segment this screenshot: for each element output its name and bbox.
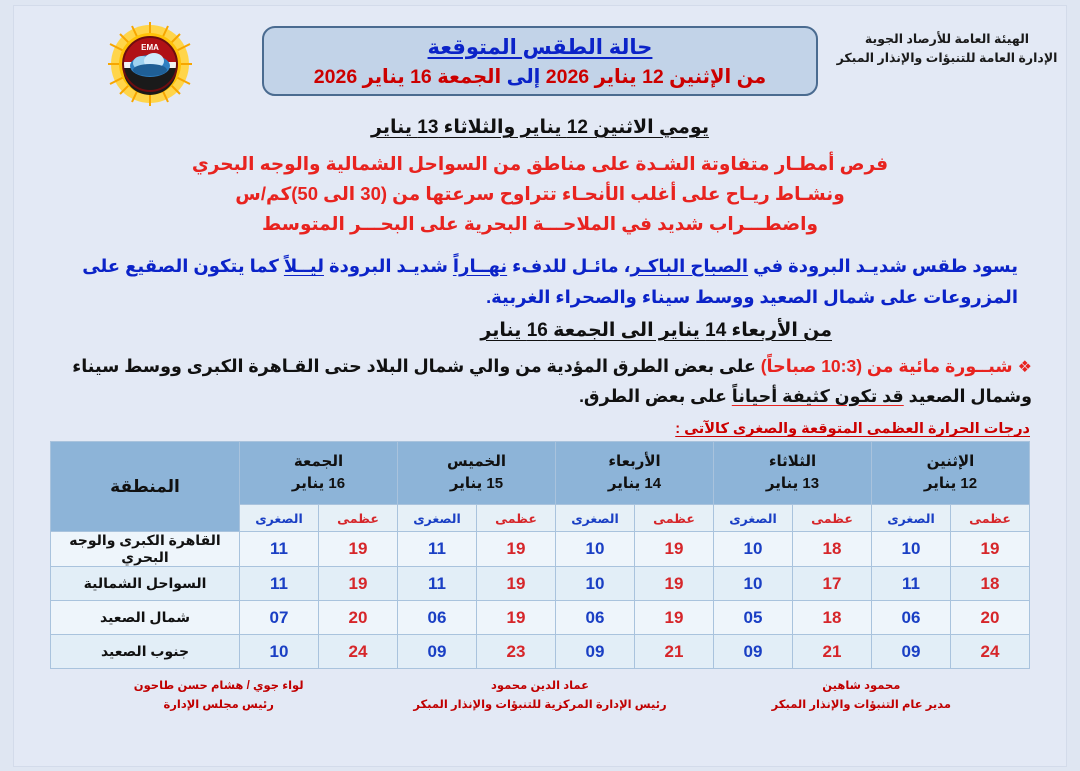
region-column-header: المنطقة (51, 442, 240, 532)
date-range-from: من الإثنين 12 يناير 2026 (546, 66, 766, 88)
fog-text-3: قد تكون كثيفة أحياناً (732, 386, 904, 406)
date-range-connector: إلى (507, 66, 541, 88)
day-date-3: 15 يناير (398, 473, 555, 496)
day-date-1: 13 يناير (714, 473, 871, 496)
subhead-min-4: الصغرى (240, 505, 319, 532)
signature-0: محمود شاهين مدير عام التنبؤات والإنذار ا… (701, 677, 1022, 714)
day-name-4: الجمعة (240, 451, 397, 474)
signature-2: لواء جوي / هشام حسن طاحون رئيس مجلس الإد… (58, 677, 379, 714)
page-title: حالة الطقس المتوقعة (264, 34, 816, 62)
signature-name-1: عماد الدين محمود (379, 677, 700, 695)
organization-line-2: الإدارة العامة للتنبؤات والإنذار المبكر (834, 49, 1060, 68)
cell-max-r0-d4: 19 (319, 532, 398, 567)
cell-min-r1-d0: 11 (872, 567, 951, 601)
cell-min-r3-d3: 09 (398, 635, 477, 669)
day-header-2: الأربعاء 14 يناير (556, 442, 714, 505)
cell-max-r2-d2: 19 (635, 601, 714, 635)
cell-min-r3-d4: 10 (240, 635, 319, 669)
cell-max-r1-d4: 19 (319, 567, 398, 601)
cell-min-r1-d2: 10 (556, 567, 635, 601)
day-date-2: 14 يناير (556, 473, 713, 496)
table-row: 18 11 17 10 19 10 19 11 19 11 السواحل ال… (51, 567, 1030, 601)
cell-min-r1-d4: 11 (240, 567, 319, 601)
cell-min-r3-d1: 09 (714, 635, 793, 669)
cell-min-r3-d0: 09 (872, 635, 951, 669)
cell-max-r1-d3: 19 (477, 567, 556, 601)
table-row: 24 09 21 09 21 09 23 09 24 10 جنوب الصعي… (51, 635, 1030, 669)
day-name-1: الثلاثاء (714, 451, 871, 474)
signature-1: عماد الدين محمود رئيس الإدارة المركزية ل… (379, 677, 700, 714)
signature-role-1: رئيس الإدارة المركزية للتنبؤات والإنذار … (379, 696, 700, 714)
cell-max-r3-d0: 24 (951, 635, 1030, 669)
day-name-2: الأربعاء (556, 451, 713, 474)
svg-text:EMA: EMA (141, 43, 159, 52)
signature-name-0: محمود شاهين (701, 677, 1022, 695)
fog-text-1: شبــورة مائية من (10:3 صباحاً) (761, 356, 1013, 376)
day-name-3: الخميس (398, 451, 555, 474)
cell-min-r0-d2: 10 (556, 532, 635, 567)
date-range-to: الجمعة 16 يناير 2026 (314, 66, 501, 88)
cell-min-r2-d1: 05 (714, 601, 793, 635)
subhead-min-1: الصغرى (714, 505, 793, 532)
organization-name: الهيئة العامة للأرصاد الجوية الإدارة الع… (834, 30, 1060, 69)
day-header-1: الثلاثاء 13 يناير (714, 442, 872, 505)
section-1-temperature-text: يسود طقس شديـد البرودة في الصباح الباكـر… (42, 251, 1038, 313)
region-label-1: السواحل الشمالية (51, 567, 240, 601)
section-1-warning-text: فرص أمطـار متفاوتة الشـدة على مناطق من ا… (42, 149, 1038, 239)
subhead-max-1: عظمى (793, 505, 872, 532)
cell-max-r3-d3: 23 (477, 635, 556, 669)
cell-max-r2-d0: 20 (951, 601, 1030, 635)
title-box: حالة الطقس المتوقعة من الإثنين 12 يناير … (262, 26, 818, 96)
cell-max-r2-d4: 20 (319, 601, 398, 635)
cell-max-r3-d4: 24 (319, 635, 398, 669)
subhead-min-0: الصغرى (872, 505, 951, 532)
day-header-4: الجمعة 16 يناير (240, 442, 398, 505)
cell-max-r0-d2: 19 (635, 532, 714, 567)
organization-line-1: الهيئة العامة للأرصاد الجوية (834, 30, 1060, 49)
warning-line-2: ونشـاط ريـاح على أغلب الأنحـاء تتراوح سر… (42, 179, 1038, 209)
region-label-3: جنوب الصعيد (51, 635, 240, 669)
cell-min-r2-d4: 07 (240, 601, 319, 635)
date-range: من الإثنين 12 يناير 2026 إلى الجمعة 16 ي… (264, 63, 816, 91)
section-2-heading: من الأربعاء 14 يناير الى الجمعة 16 يناير (42, 319, 1038, 342)
document-body: يومي الاثنين 12 يناير والثلاثاء 13 يناير… (14, 116, 1066, 714)
subhead-max-3: عظمى (477, 505, 556, 532)
blue-text-1: يسود طقس شديـد البرودة في (748, 256, 1018, 276)
cell-max-r0-d1: 18 (793, 532, 872, 567)
table-header-row-days: الإثنين 12 يناير الثلاثاء 13 يناير الأرب… (51, 442, 1030, 505)
cell-max-r3-d2: 21 (635, 635, 714, 669)
region-label-0: القاهرة الكبرى والوجه البحري (51, 532, 240, 567)
cell-min-r3-d2: 09 (556, 635, 635, 669)
cell-min-r0-d3: 11 (398, 532, 477, 567)
cell-min-r2-d0: 06 (872, 601, 951, 635)
document-footer: محمود شاهين مدير عام التنبؤات والإنذار ا… (42, 669, 1038, 714)
day-name-0: الإثنين (872, 451, 1029, 474)
fog-text-4: على بعض الطرق. (579, 386, 732, 406)
ema-sun-logo-icon: EMA (92, 22, 208, 106)
region-label-2: شمال الصعيد (51, 601, 240, 635)
temperature-table-wrap: الإثنين 12 يناير الثلاثاء 13 يناير الأرب… (42, 441, 1038, 669)
cell-min-r2-d2: 06 (556, 601, 635, 635)
cell-max-r1-d1: 17 (793, 567, 872, 601)
blue-underline-3: ليــلاً (284, 256, 324, 276)
signature-role-0: مدير عام التنبؤات والإنذار المبكر (701, 696, 1022, 714)
blue-text-2: ، مائـل للدفء (507, 256, 630, 276)
day-header-0: الإثنين 12 يناير (872, 442, 1030, 505)
cell-min-r0-d4: 11 (240, 532, 319, 567)
cell-max-r2-d3: 19 (477, 601, 556, 635)
subhead-min-2: الصغرى (556, 505, 635, 532)
document-header: EMA حالة الطقس المتوقعة من الإثنين 12 ين… (14, 6, 1066, 110)
subhead-max-2: عظمى (635, 505, 714, 532)
blue-underline-1: الصباح الباكـر (631, 256, 749, 276)
cell-min-r0-d0: 10 (872, 532, 951, 567)
cell-min-r1-d3: 11 (398, 567, 477, 601)
table-row: 20 06 18 05 19 06 19 06 20 07 شمال الصعي… (51, 601, 1030, 635)
day-date-0: 12 يناير (872, 473, 1029, 496)
weather-forecast-page: EMA حالة الطقس المتوقعة من الإثنين 12 ين… (0, 0, 1080, 771)
temperature-table: الإثنين 12 يناير الثلاثاء 13 يناير الأرب… (50, 441, 1030, 669)
section-1-heading: يومي الاثنين 12 يناير والثلاثاء 13 يناير (42, 116, 1038, 139)
cell-max-r1-d2: 19 (635, 567, 714, 601)
cell-min-r1-d1: 10 (714, 567, 793, 601)
signature-name-2: لواء جوي / هشام حسن طاحون (58, 677, 379, 695)
signature-role-2: رئيس مجلس الإدارة (58, 696, 379, 714)
diamond-bullet-icon: ❖ (1018, 359, 1032, 376)
subhead-max-4: عظمى (319, 505, 398, 532)
warning-line-1: فرص أمطـار متفاوتة الشـدة على مناطق من ا… (42, 149, 1038, 179)
table-caption: درجات الحرارة العظمى المتوقعة والصغرى كا… (42, 421, 1032, 437)
cell-max-r0-d3: 19 (477, 532, 556, 567)
table-row: 19 10 18 10 19 10 19 11 19 11 القاهرة ال… (51, 532, 1030, 567)
cell-max-r1-d0: 18 (951, 567, 1030, 601)
subhead-max-0: عظمى (951, 505, 1030, 532)
day-header-3: الخميس 15 يناير (398, 442, 556, 505)
document-sheet: EMA حالة الطقس المتوقعة من الإثنين 12 ين… (14, 6, 1066, 766)
blue-underline-2: نهــاراً (453, 256, 507, 276)
day-date-4: 16 يناير (240, 473, 397, 496)
cell-max-r3-d1: 21 (793, 635, 872, 669)
warning-line-3: واضطـــراب شديد في الملاحـــة البحرية عل… (42, 209, 1038, 239)
cell-min-r0-d1: 10 (714, 532, 793, 567)
cell-max-r2-d1: 18 (793, 601, 872, 635)
cell-max-r0-d0: 19 (951, 532, 1030, 567)
subhead-min-3: الصغرى (398, 505, 477, 532)
cell-min-r2-d3: 06 (398, 601, 477, 635)
section-2-fog-text: ❖شبــورة مائية من (10:3 صباحاً) على بعض … (42, 352, 1038, 412)
blue-text-3: شديـد البرودة (324, 256, 453, 276)
